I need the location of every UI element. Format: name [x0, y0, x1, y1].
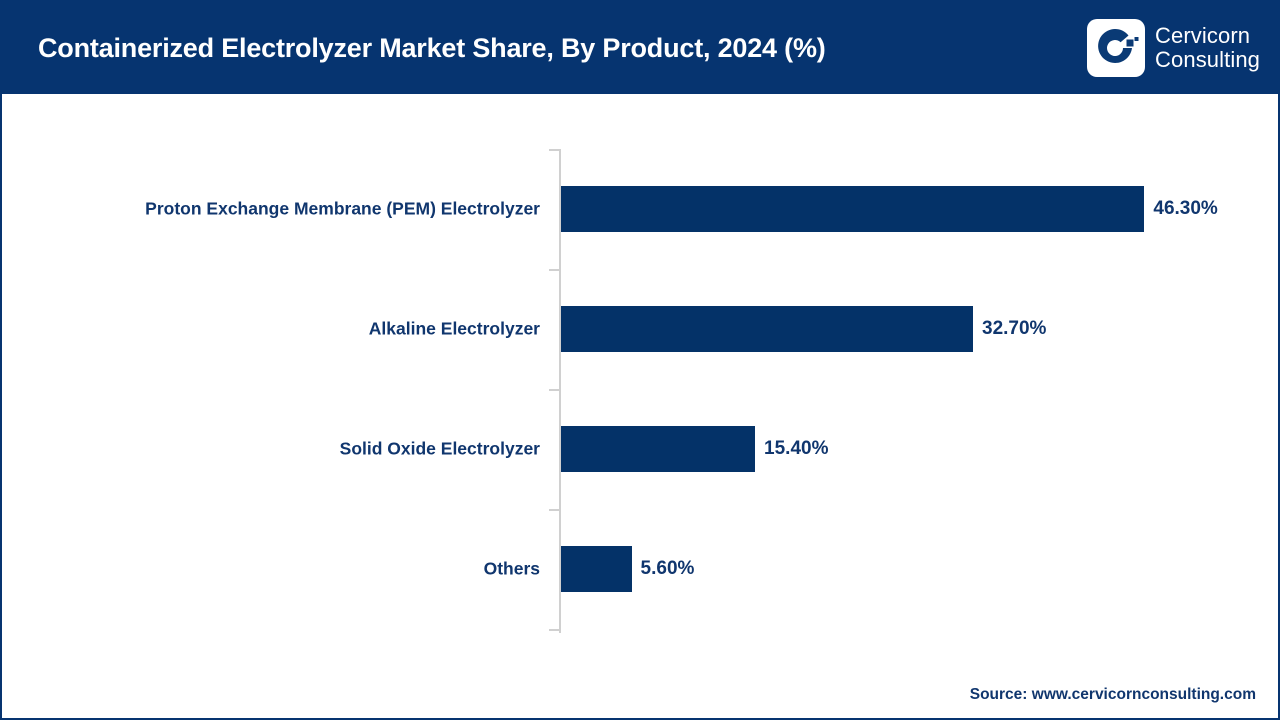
bar-value-label: 46.30% — [1153, 198, 1217, 220]
bar-fill[interactable] — [561, 186, 1144, 232]
bar-row[interactable]: Proton Exchange Membrane (PEM) Electroly… — [2, 149, 1278, 269]
chart-header: Containerized Electrolyzer Market Share,… — [2, 2, 1278, 94]
bar-category-label: Solid Oxide Electrolyzer — [340, 439, 540, 460]
bar-value-label: 32.70% — [982, 318, 1046, 340]
bar-row[interactable]: Alkaline Electrolyzer32.70% — [2, 269, 1278, 389]
brand-name: Cervicorn Consulting — [1155, 24, 1260, 72]
bar-value-label: 5.60% — [641, 558, 695, 580]
bar-fill[interactable] — [561, 426, 755, 472]
bar-row[interactable]: Solid Oxide Electrolyzer15.40% — [2, 389, 1278, 509]
chart-page: Containerized Electrolyzer Market Share,… — [0, 0, 1280, 720]
bar-track: 5.60% — [561, 546, 694, 592]
axis-tick — [549, 629, 560, 631]
cervicorn-c-mark-icon — [1087, 19, 1145, 77]
bar-value-label: 15.40% — [764, 438, 828, 460]
bar-track: 15.40% — [561, 426, 828, 472]
source-note: Source: www.cervicornconsulting.com — [970, 686, 1256, 704]
bar-row[interactable]: Others5.60% — [2, 509, 1278, 629]
bar-category-label: Alkaline Electrolyzer — [369, 319, 540, 340]
bar-chart-plot-area: Proton Exchange Membrane (PEM) Electroly… — [2, 94, 1278, 718]
brand-name-line2: Consulting — [1155, 48, 1260, 72]
brand-logo: Cervicorn Consulting — [1087, 19, 1278, 77]
brand-name-line1: Cervicorn — [1155, 24, 1260, 48]
bar-fill[interactable] — [561, 306, 973, 352]
bar-track: 46.30% — [561, 186, 1218, 232]
bar-track: 32.70% — [561, 306, 1046, 352]
bar-category-label: Proton Exchange Membrane (PEM) Electroly… — [145, 199, 540, 220]
bar-fill[interactable] — [561, 546, 632, 592]
page-title: Containerized Electrolyzer Market Share,… — [2, 33, 826, 64]
bar-category-label: Others — [484, 559, 540, 580]
